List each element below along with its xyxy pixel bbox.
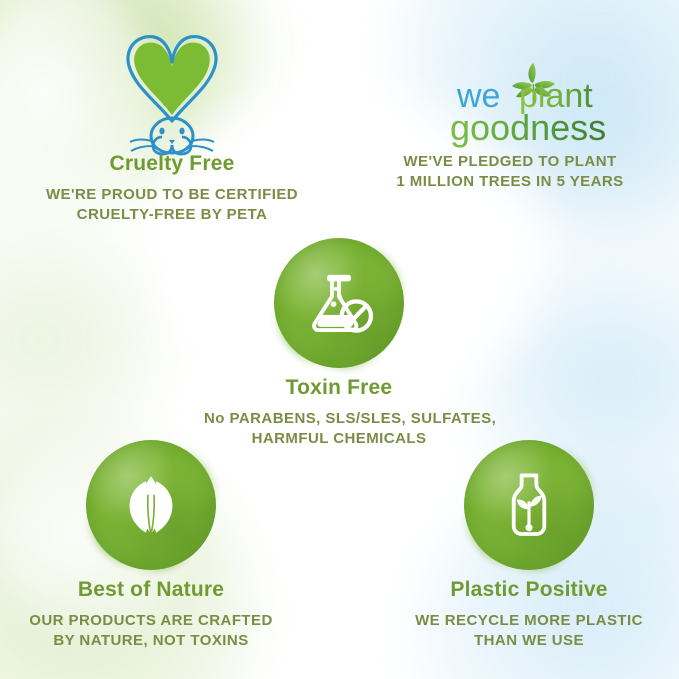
badge-disc-plastic-positive: [464, 440, 594, 570]
peta-bunny-nose: [169, 140, 175, 144]
badge-subtitle-plastic-positive: WE RECYCLE MORE PLASTIC THAN WE USE: [398, 611, 660, 651]
logo-word-goodness: goodness: [450, 107, 606, 148]
badge-disc-toxin-free: [274, 238, 404, 368]
badge-subtitle-line: CRUELTY-FREE BY PETA: [22, 205, 322, 225]
three-leaves-icon: [86, 440, 216, 570]
badge-subtitle-line: OUR PRODUCTS ARE CRAFTED: [20, 611, 282, 631]
we-plant-goodness-logo: we plant goodness: [445, 60, 645, 160]
badge-disc-best-of-nature: [86, 440, 216, 570]
peta-bunny-heart-logo: [106, 22, 238, 156]
badge-title-plastic-positive: Plastic Positive: [398, 578, 660, 602]
badge-subtitle-we-plant-goodness: WE'VE PLEDGED TO PLANT 1 MILLION TREES I…: [360, 152, 660, 192]
badge-title-best-of-nature: Best of Nature: [20, 578, 282, 602]
flask-prohibited-icon: [274, 238, 404, 368]
badge-cruelty-free: Cruelty Free WE'RE PROUD TO BE CERTIFIED…: [22, 152, 322, 225]
badge-title-cruelty-free: Cruelty Free: [22, 152, 322, 176]
peta-bunny-whisker-r1: [192, 140, 214, 142]
badge-toxin-free: Toxin Free No PARABENS, SLS/SLES, SULFAT…: [204, 238, 474, 449]
brand-values-infographic: we plant goodness Cruelty Free WE'RE PRO…: [0, 0, 679, 679]
badge-we-plant-goodness: WE'VE PLEDGED TO PLANT 1 MILLION TREES I…: [360, 152, 660, 192]
badge-subtitle-line: WE'RE PROUD TO BE CERTIFIED: [22, 185, 322, 205]
bottle-sprout-icon: [464, 440, 594, 570]
peta-bunny-whisker-r2: [192, 146, 213, 151]
peta-bunny-whisker-l1: [130, 140, 152, 142]
badge-subtitle-best-of-nature: OUR PRODUCTS ARE CRAFTED BY NATURE, NOT …: [20, 611, 282, 651]
peta-heart-fill: [134, 43, 210, 115]
badge-subtitle-cruelty-free: WE'RE PROUD TO BE CERTIFIED CRUELTY-FREE…: [22, 185, 322, 225]
peta-bunny-eye-left: [159, 128, 164, 135]
peta-bunny-whisker-l2: [131, 146, 152, 151]
badge-best-of-nature: Best of Nature OUR PRODUCTS ARE CRAFTED …: [20, 440, 282, 651]
badge-subtitle-line: No PARABENS, SLS/SLES, SULFATES,: [204, 409, 474, 429]
badge-subtitle-line: 1 MILLION TREES IN 5 YEARS: [360, 172, 660, 192]
badge-subtitle-line: BY NATURE, NOT TOXINS: [20, 631, 282, 651]
badge-subtitle-line: WE'VE PLEDGED TO PLANT: [360, 152, 660, 172]
badge-plastic-positive: Plastic Positive WE RECYCLE MORE PLASTIC…: [398, 440, 660, 651]
badge-subtitle-line: WE RECYCLE MORE PLASTIC: [398, 611, 660, 631]
peta-bunny-eye-right: [179, 128, 184, 135]
badge-subtitle-line: THAN WE USE: [398, 631, 660, 651]
badge-title-toxin-free: Toxin Free: [204, 376, 474, 400]
